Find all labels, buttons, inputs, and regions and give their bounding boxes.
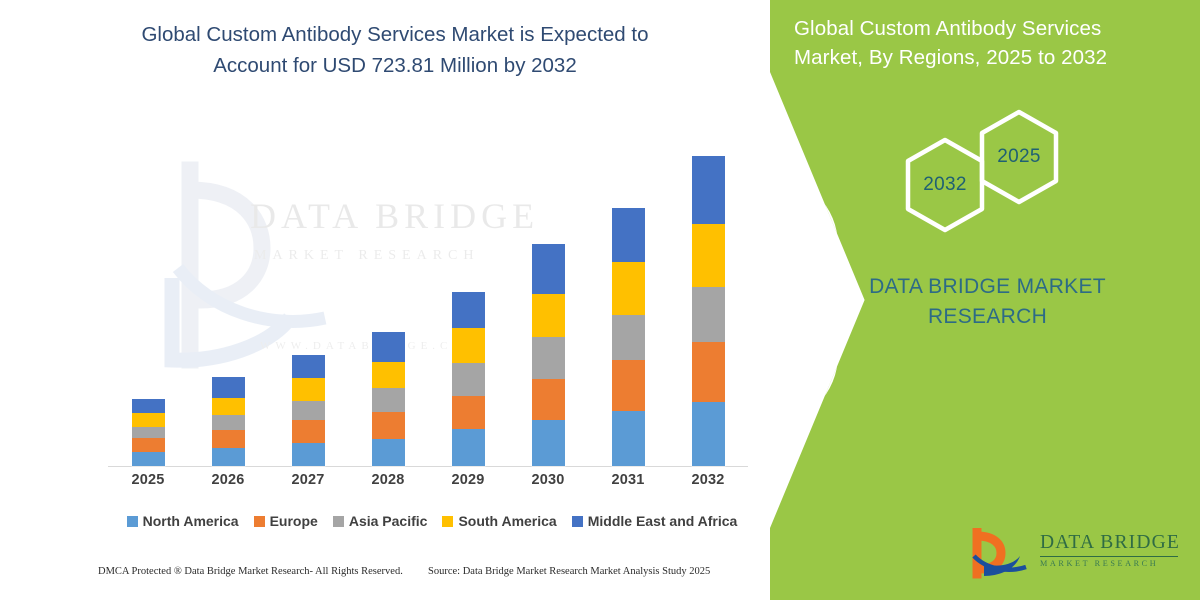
bar-segment[interactable] (532, 379, 565, 420)
bar-segment[interactable] (532, 420, 565, 466)
bar-segment[interactable] (292, 420, 325, 443)
panel-brand: DATA BRIDGE MARKET RESEARCH (800, 272, 1175, 333)
bar-segment[interactable] (532, 244, 565, 294)
bar-segment[interactable] (612, 262, 645, 315)
logo-wordmark: DATA BRIDGE MARKET RESEARCH (1040, 532, 1180, 568)
legend-label: Europe (270, 513, 318, 529)
bar-segment[interactable] (132, 413, 165, 427)
logo-name: DATA BRIDGE (1040, 532, 1180, 554)
legend-item[interactable]: Middle East and Africa (572, 513, 738, 529)
bar-segment[interactable] (692, 224, 725, 287)
right-green-panel: Global Custom Antibody Services Market, … (770, 0, 1200, 600)
bar-segment[interactable] (372, 412, 405, 439)
bar-column-2025 (108, 140, 188, 466)
bar-column-2027 (268, 140, 348, 466)
plot-area (108, 140, 748, 467)
bar-segment[interactable] (692, 287, 725, 342)
footer: DMCA Protected ® Data Bridge Market Rese… (0, 566, 790, 588)
bar-column-2028 (348, 140, 428, 466)
hexagon-year-end-label: 2025 (997, 146, 1040, 168)
bar-column-2030 (508, 140, 588, 466)
panel-heading-line-1: Global Custom Antibody Services (794, 14, 1184, 43)
bar-segment[interactable] (452, 429, 485, 466)
panel-heading-line-2: Market, By Regions, 2025 to 2032 (794, 43, 1184, 72)
bar-segment[interactable] (132, 438, 165, 452)
chart-title-line-2: Account for USD 723.81 Million by 2032 (60, 51, 730, 82)
bar-segment[interactable] (292, 378, 325, 401)
x-axis-tick-labels: 20252026202720282029203020312032 (108, 472, 748, 496)
bar-segment[interactable] (132, 399, 165, 413)
x-tick-2029: 2029 (428, 472, 508, 496)
stacked-bar[interactable] (452, 292, 485, 466)
bar-segment[interactable] (292, 355, 325, 379)
x-tick-2025: 2025 (108, 472, 188, 496)
legend-item[interactable]: North America (127, 513, 239, 529)
stacked-bar[interactable] (532, 244, 565, 466)
panel-brand-line-1: DATA BRIDGE MARKET (800, 272, 1175, 302)
hexagon-year-start-label: 2032 (923, 174, 966, 196)
logo-tagline: MARKET RESEARCH (1040, 559, 1180, 568)
hexagon-year-end: 2025 (976, 108, 1062, 206)
legend-label: Middle East and Africa (588, 513, 738, 529)
legend-item[interactable]: Europe (254, 513, 318, 529)
bar-segment[interactable] (612, 315, 645, 360)
x-tick-2031: 2031 (588, 472, 668, 496)
x-tick-2032: 2032 (668, 472, 748, 496)
panel-brand-line-2: RESEARCH (800, 302, 1175, 332)
stacked-bar[interactable] (292, 355, 325, 466)
bar-segment[interactable] (212, 377, 245, 398)
bar-segment[interactable] (532, 294, 565, 337)
company-logo: DATA BRIDGE MARKET RESEARCH (970, 526, 1180, 582)
x-tick-2028: 2028 (348, 472, 428, 496)
bar-segment[interactable] (532, 337, 565, 379)
legend-label: South America (458, 513, 556, 529)
panel-heading: Global Custom Antibody Services Market, … (794, 14, 1184, 72)
chart-legend: North AmericaEuropeAsia PacificSouth Ame… (108, 510, 756, 532)
footer-copyright: DMCA Protected ® Data Bridge Market Rese… (98, 566, 403, 577)
bar-segment[interactable] (452, 328, 485, 363)
chart-title: Global Custom Antibody Services Market i… (60, 20, 730, 82)
x-tick-2027: 2027 (268, 472, 348, 496)
stacked-bar[interactable] (132, 399, 165, 466)
bar-column-2029 (428, 140, 508, 466)
stacked-bar[interactable] (212, 377, 245, 466)
legend-label: North America (143, 513, 239, 529)
bar-segment[interactable] (452, 396, 485, 429)
bar-segment[interactable] (692, 342, 725, 403)
chart-title-line-1: Global Custom Antibody Services Market i… (60, 20, 730, 51)
bar-segment[interactable] (452, 292, 485, 328)
bar-segment[interactable] (212, 448, 245, 466)
bar-column-2031 (588, 140, 668, 466)
bar-segment[interactable] (292, 443, 325, 466)
legend-swatch-icon (254, 516, 265, 527)
bar-group (108, 140, 748, 466)
x-tick-2026: 2026 (188, 472, 268, 496)
legend-swatch-icon (333, 516, 344, 527)
bar-segment[interactable] (612, 411, 645, 466)
bar-segment[interactable] (692, 156, 725, 225)
x-tick-2030: 2030 (508, 472, 588, 496)
legend-item[interactable]: Asia Pacific (333, 513, 428, 529)
data-bridge-logo-icon (970, 528, 1034, 580)
bar-segment[interactable] (612, 360, 645, 412)
bar-segment[interactable] (372, 332, 405, 362)
bar-segment[interactable] (372, 388, 405, 412)
bar-column-2026 (188, 140, 268, 466)
bar-column-2032 (668, 140, 748, 466)
x-axis-line (108, 466, 748, 467)
footer-source: Source: Data Bridge Market Research Mark… (428, 566, 710, 577)
bar-segment[interactable] (292, 401, 325, 420)
stacked-bar[interactable] (372, 332, 405, 466)
bar-segment[interactable] (212, 398, 245, 415)
chart-panel: Global Custom Antibody Services Market i… (0, 0, 790, 600)
legend-swatch-icon (572, 516, 583, 527)
bar-segment[interactable] (612, 208, 645, 262)
infographic-canvas: Global Custom Antibody Services Market i… (0, 0, 1200, 600)
bar-segment[interactable] (212, 415, 245, 430)
bar-segment[interactable] (372, 439, 405, 466)
legend-item[interactable]: South America (442, 513, 556, 529)
stacked-bar[interactable] (612, 208, 645, 466)
legend-swatch-icon (442, 516, 453, 527)
stacked-bar[interactable] (692, 156, 725, 466)
bar-segment[interactable] (212, 430, 245, 448)
bar-segment[interactable] (132, 452, 165, 466)
bar-segment[interactable] (372, 362, 405, 389)
legend-label: Asia Pacific (349, 513, 428, 529)
bar-segment[interactable] (132, 427, 165, 438)
logo-divider (1040, 556, 1178, 557)
legend-swatch-icon (127, 516, 138, 527)
bar-segment[interactable] (692, 402, 725, 466)
bar-segment[interactable] (452, 363, 485, 397)
hexagon-group: 2032 2025 (890, 108, 1190, 238)
